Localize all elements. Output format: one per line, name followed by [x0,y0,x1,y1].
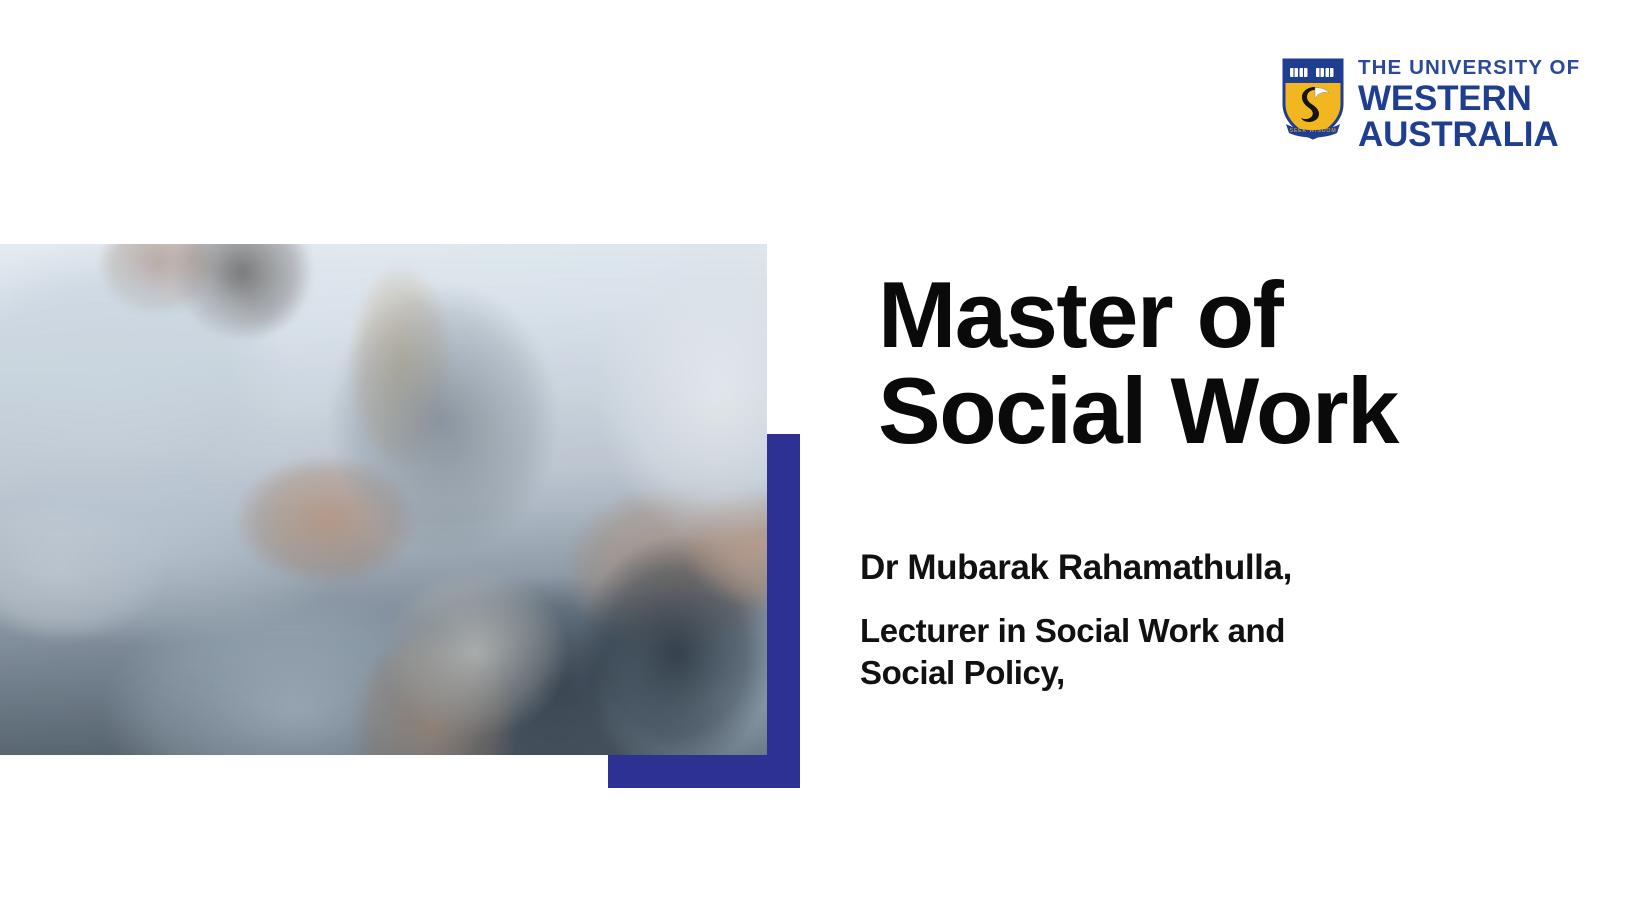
uwa-logo: SEEK WISDOM THE UNIVERSITY OF WESTERN AU… [1282,58,1580,154]
title-slide: SEEK WISDOM THE UNIVERSITY OF WESTERN AU… [0,0,1634,908]
group-counselling-photo [0,244,767,755]
uwa-wordmark-line1: THE UNIVERSITY OF [1358,58,1580,79]
uwa-wordmark-line3: AUSTRALIA [1358,117,1580,154]
presenter-block: Dr Mubarak Rahamathulla, Lecturer in Soc… [860,548,1460,695]
photo-tint-overlay [0,244,767,755]
presenter-role: Lecturer in Social Work and Social Polic… [860,610,1460,694]
crest-motto-text: SEEK WISDOM [1289,128,1336,134]
uwa-wordmark: THE UNIVERSITY OF WESTERN AUSTRALIA [1358,58,1580,154]
shield-crest-swan-books-icon: SEEK WISDOM [1282,58,1344,146]
slide-title: Master of Social Work [878,267,1518,459]
uwa-wordmark-line2: WESTERN [1358,81,1580,118]
presenter-name: Dr Mubarak Rahamathulla, [860,548,1460,588]
